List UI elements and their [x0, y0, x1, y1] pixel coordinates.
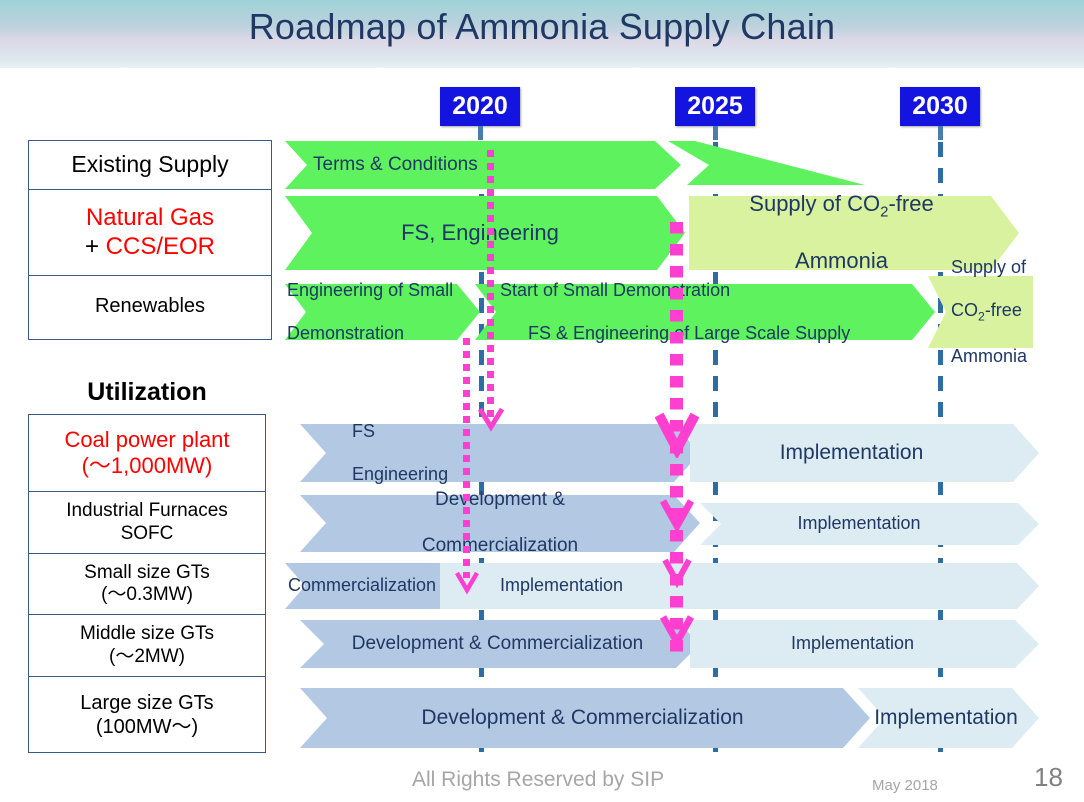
- utilization-heading: Utilization: [27, 378, 267, 407]
- connector-2020-to-smallgt-line: [463, 338, 470, 578]
- large-gt-line2: (100MW〜): [80, 716, 213, 740]
- label-supply-co2-free-small: Supply of CO2-free Ammonia: [951, 276, 1027, 348]
- label-coal-implementation: Implementation: [690, 424, 1013, 482]
- footer-date: May 2018: [872, 777, 938, 794]
- footer-page-number: 18: [1034, 762, 1063, 793]
- connector-2025-arrowhead-smallgt: [662, 556, 692, 589]
- label-large-implementation: Implementation: [858, 688, 1034, 748]
- coal-fs-line1: FS: [352, 421, 448, 443]
- year-stem-2025: [713, 126, 718, 140]
- small-gt-line2: (〜0.3MW): [84, 584, 210, 606]
- label-engineering-small-demo: Engineering of Small Demonstration: [287, 284, 453, 340]
- supply-row-existing-supply: Existing Supply: [29, 141, 271, 189]
- supply-ammonia-line1: Supply of CO: [749, 191, 880, 216]
- furnace-dev-line2: Commercialization: [422, 535, 578, 558]
- utilization-category-table: Coal power plant (〜1,000MW) Industrial F…: [28, 414, 266, 753]
- natural-gas-ccs-eor: CCS/EOR: [106, 233, 215, 260]
- connector-2020-to-coal-arrowhead: [478, 405, 504, 433]
- coal-line2: (〜1,000MW): [64, 453, 229, 479]
- furnace-dev-line1: Development &: [422, 489, 578, 512]
- label-furnace-implementation: Implementation: [700, 503, 1018, 545]
- year-box-2020: 2020: [440, 87, 520, 126]
- label-middle-dev-comm: Development & Commercialization: [300, 620, 695, 668]
- supply-row-natural-gas: Natural Gas + CCS/EOR: [29, 189, 271, 275]
- footer-credit: All Rights Reserved by SIP: [412, 768, 664, 792]
- natural-gas-plus: +: [85, 233, 106, 260]
- large-gt-line1: Large size GTs: [80, 692, 213, 716]
- connector-2020-to-smallgt-arrowhead: [455, 570, 479, 596]
- supply-small-line2b: -free: [985, 300, 1022, 320]
- small-gt-line1: Small size GTs: [84, 562, 210, 584]
- page-title: Roadmap of Ammonia Supply Chain: [0, 6, 1084, 48]
- supply-small-line2a: CO: [951, 300, 978, 320]
- year-stem-2020: [478, 126, 483, 140]
- supply-small-sub: 2: [978, 309, 985, 323]
- middle-gt-line2: (〜2MW): [80, 646, 214, 668]
- eng-small-demo-line1: Engineering of Small: [287, 280, 453, 302]
- label-small-commercialization: Commercialization: [288, 563, 436, 609]
- connector-2020-to-coal-line: [487, 150, 494, 422]
- utilization-row-middle-size-gts: Middle size GTs (〜2MW): [29, 614, 265, 676]
- furnace-line2: SOFC: [66, 523, 228, 545]
- year-box-2025: 2025: [675, 87, 755, 126]
- supply-row-renewables: Renewables: [29, 275, 271, 337]
- label-furnace-dev-comm: Development & Commercialization: [300, 495, 700, 552]
- coal-line1: Coal power plant: [64, 427, 229, 453]
- label-large-dev-comm: Development & Commercialization: [300, 688, 865, 748]
- connector-2025-arrowhead-furnace: [660, 497, 694, 533]
- middle-gt-line1: Middle size GTs: [80, 623, 214, 645]
- furnace-line1: Industrial Furnaces: [66, 500, 228, 522]
- label-terms-conditions: Terms & Conditions: [313, 141, 478, 189]
- year-box-2030: 2030: [900, 87, 980, 126]
- year-stem-2030: [938, 126, 943, 140]
- title-banner: Roadmap of Ammonia Supply Chain: [0, 0, 1084, 68]
- start-small-demo-line2: FS & Engineering of Large Scale Supply: [528, 323, 850, 345]
- label-small-implementation: Implementation: [500, 563, 623, 609]
- connector-2025-arrowhead-middlegt: [660, 613, 694, 649]
- natural-gas-line1: Natural Gas: [85, 204, 215, 232]
- supply-category-table: Existing Supply Natural Gas + CCS/EOR Re…: [28, 140, 272, 340]
- supply-small-line3: Ammonia: [951, 346, 1027, 368]
- connector-2025-arrowhead-coal: [655, 410, 699, 458]
- supply-ammonia-line1b: -free: [888, 191, 933, 216]
- label-middle-implementation: Implementation: [690, 620, 1015, 668]
- utilization-row-coal-power-plant: Coal power plant (〜1,000MW): [29, 415, 265, 491]
- utilization-row-small-size-gts: Small size GTs (〜0.3MW): [29, 553, 265, 614]
- utilization-row-large-size-gts: Large size GTs (100MW〜): [29, 676, 265, 754]
- supply-small-line1: Supply of: [951, 257, 1027, 279]
- eng-small-demo-line2: Demonstration: [287, 323, 453, 345]
- utilization-row-industrial-furnaces: Industrial Furnaces SOFC: [29, 491, 265, 553]
